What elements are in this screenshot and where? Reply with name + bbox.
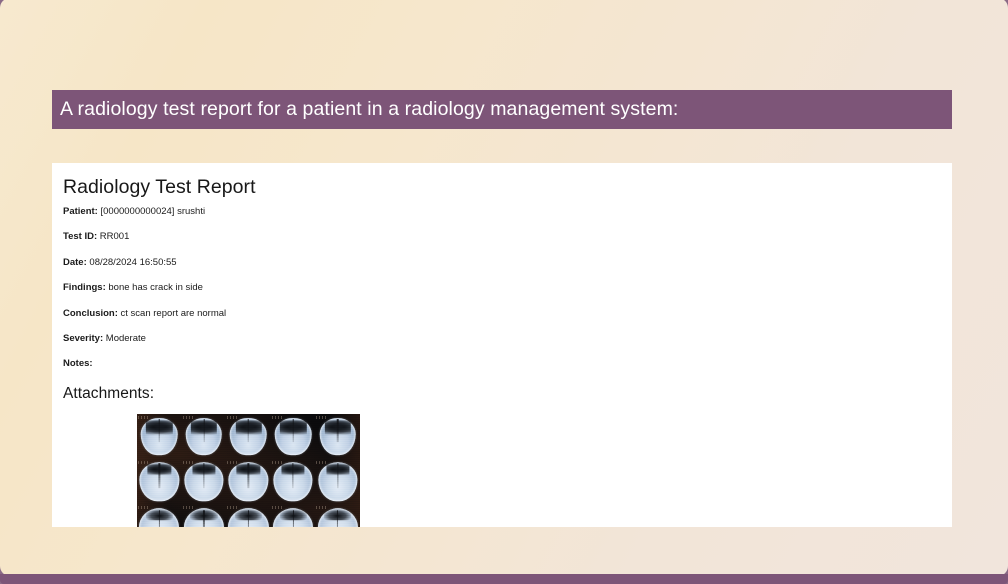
field-findings: Findings: bone has crack in side	[63, 282, 952, 294]
ct-slice	[226, 504, 271, 527]
ct-slice	[182, 459, 227, 504]
field-test-id-label: Test ID:	[63, 231, 97, 242]
ct-slice	[315, 459, 360, 504]
ct-slice	[137, 414, 182, 459]
page-bottom-accent-bar	[0, 574, 1008, 584]
attachment-ct-scan-image[interactable]	[137, 414, 360, 527]
ct-slice	[226, 414, 271, 459]
field-severity-value: Moderate	[106, 333, 146, 344]
field-notes-label: Notes:	[63, 358, 93, 369]
ct-brain-cross-section	[141, 418, 178, 456]
ct-brain-cross-section	[230, 418, 267, 456]
ct-slice	[226, 459, 271, 504]
ct-slice	[271, 459, 316, 504]
ct-brain-cross-section	[184, 508, 224, 527]
ct-brain-cross-section	[229, 462, 268, 502]
field-notes: Notes:	[63, 358, 952, 370]
ct-slice	[137, 459, 182, 504]
ct-brain-cross-section	[318, 462, 357, 502]
page-root: A radiology test report for a patient in…	[0, 0, 1008, 584]
field-patient-label: Patient:	[63, 206, 98, 217]
field-findings-label: Findings:	[63, 282, 106, 293]
field-conclusion-label: Conclusion:	[63, 308, 118, 319]
ct-brain-cross-section	[140, 462, 179, 502]
field-test-id: Test ID: RR001	[63, 231, 952, 243]
ct-brain-cross-section	[184, 462, 223, 502]
ct-brain-cross-section	[318, 508, 358, 527]
ct-slice	[182, 414, 227, 459]
ct-brain-cross-section	[228, 508, 268, 527]
page-banner: A radiology test report for a patient in…	[52, 90, 952, 129]
banner-title: A radiology test report for a patient in…	[60, 98, 678, 121]
ct-brain-cross-section	[186, 418, 223, 456]
field-conclusion: Conclusion: ct scan report are normal	[63, 308, 952, 320]
field-severity: Severity: Moderate	[63, 333, 952, 345]
attachments-heading: Attachments:	[63, 385, 952, 403]
ct-brain-cross-section	[139, 508, 179, 527]
ct-brain-cross-section	[275, 418, 312, 456]
field-date-label: Date:	[63, 257, 87, 268]
field-date: Date: 08/28/2024 16:50:55	[63, 257, 952, 269]
field-test-id-value: RR001	[100, 231, 130, 242]
ct-slice-grid	[137, 414, 360, 527]
ct-slice	[137, 504, 182, 527]
ct-slice	[315, 414, 360, 459]
field-conclusion-value: ct scan report are normal	[121, 308, 227, 319]
field-patient: Patient: [0000000000024] srushti	[63, 206, 952, 218]
ct-slice	[271, 504, 316, 527]
ct-slice	[182, 504, 227, 527]
ct-brain-cross-section	[273, 462, 312, 502]
field-findings-value: bone has crack in side	[108, 282, 203, 293]
field-patient-value: [0000000000024] srushti	[100, 206, 205, 217]
report-title: Radiology Test Report	[63, 176, 952, 199]
ct-brain-cross-section	[273, 508, 313, 527]
ct-brain-cross-section	[319, 418, 356, 456]
ct-slice	[271, 414, 316, 459]
ct-slice	[315, 504, 360, 527]
field-date-value: 08/28/2024 16:50:55	[89, 257, 176, 268]
field-severity-label: Severity:	[63, 333, 103, 344]
